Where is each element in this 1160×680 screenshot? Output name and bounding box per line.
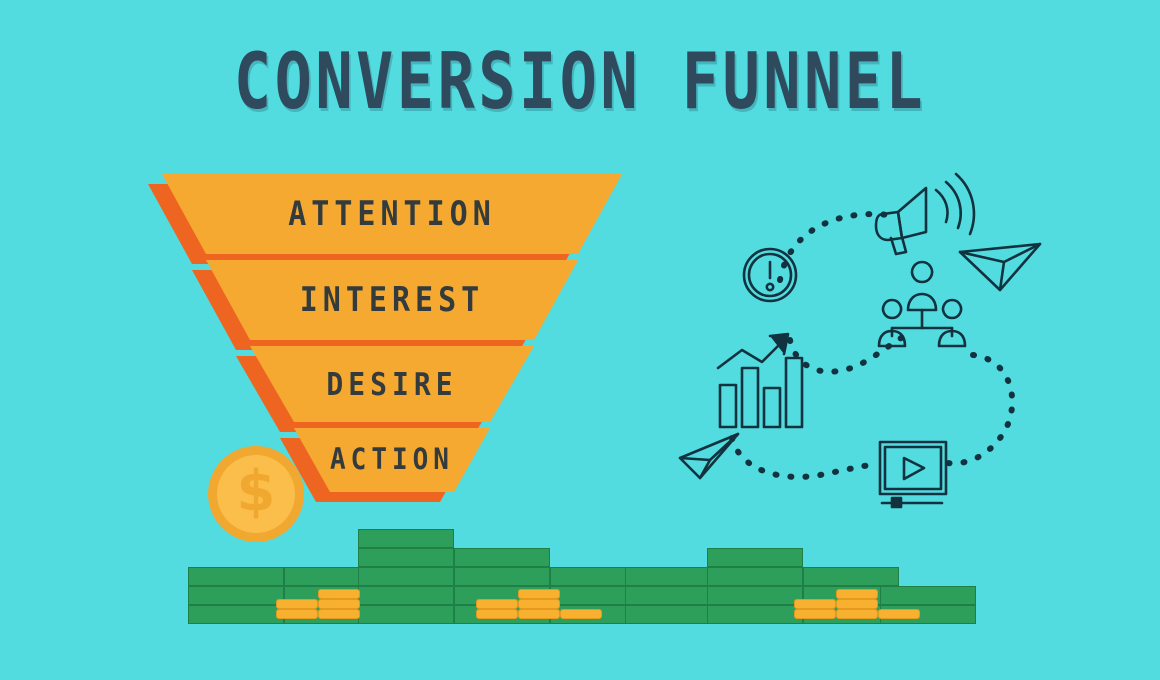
banknote-block	[358, 548, 454, 567]
alert-circle-icon	[744, 249, 796, 301]
funnel-layer-label: INTEREST	[206, 255, 578, 345]
megaphone-icon	[876, 174, 974, 254]
funnel-layer-label: DESIRE	[250, 341, 534, 426]
coin-stack-piece	[878, 609, 920, 619]
banknote-block	[358, 586, 454, 605]
coin-stack-piece	[476, 599, 518, 609]
banknote-block	[358, 567, 454, 586]
coin-inner-disc: $	[217, 455, 295, 533]
coin-stack-piece	[836, 589, 878, 599]
dollar-coin: $	[208, 446, 304, 542]
poster-canvas: CONVERSION FUNNEL ATTENTION INTEREST DES…	[0, 0, 1160, 680]
banknote-block	[625, 586, 721, 605]
coin-stack-piece	[794, 599, 836, 609]
banknote-block	[550, 605, 646, 624]
page-title: CONVERSION FUNNEL	[81, 42, 1079, 120]
banknote-block	[625, 605, 721, 624]
coin-stack-piece	[836, 609, 878, 619]
banknote-block	[358, 529, 454, 548]
coin-stack-piece	[560, 609, 602, 619]
banknote-block	[707, 586, 803, 605]
paper-plane-icon	[960, 244, 1040, 290]
banknote-block	[625, 567, 721, 586]
banknote-block	[803, 567, 899, 586]
coin-stack-piece	[276, 609, 318, 619]
banknote-block	[188, 567, 284, 586]
banknote-block	[284, 605, 380, 624]
banknote-block	[454, 567, 550, 586]
banknote-block	[284, 586, 380, 605]
banknote-block	[284, 567, 380, 586]
conversion-funnel: ATTENTION INTEREST DESIRE ACTION	[140, 160, 640, 490]
coin-stack-piece	[318, 609, 360, 619]
dotted-path-middle	[790, 335, 908, 372]
coin-stack-piece	[318, 589, 360, 599]
users-network-icon	[879, 262, 965, 346]
banknote-block	[550, 567, 646, 586]
dotted-path-bottom	[732, 438, 876, 477]
dollar-sign-icon: $	[237, 464, 276, 520]
banknote-block	[550, 586, 646, 605]
coin-stack-piece	[518, 599, 560, 609]
banknote-block	[454, 586, 550, 605]
funnel-layer-label: ACTION	[294, 424, 490, 496]
coin-stack-piece	[276, 599, 318, 609]
banknote-block	[707, 605, 803, 624]
funnel-layer-label: ATTENTION	[162, 169, 622, 259]
banknote-block	[454, 605, 550, 624]
banknote-block	[803, 586, 899, 605]
banknote-block	[880, 605, 976, 624]
banknote-block	[454, 548, 550, 567]
banknote-block	[880, 586, 976, 605]
coin-stack-piece	[318, 599, 360, 609]
coin-stack-piece	[794, 609, 836, 619]
banknote-block	[803, 605, 899, 624]
paper-plane-small-icon	[680, 434, 738, 478]
coin-stack-piece	[518, 609, 560, 619]
banknote-block	[188, 605, 284, 624]
coin-stack-piece	[518, 589, 560, 599]
video-player-icon	[880, 442, 946, 507]
coin-stack-piece	[836, 599, 878, 609]
banknote-block	[188, 586, 284, 605]
marketing-illustration	[670, 170, 1070, 510]
dotted-path-right-loop	[942, 355, 1012, 463]
coin-stack-piece	[476, 609, 518, 619]
banknote-block	[707, 548, 803, 567]
banknote-block	[707, 567, 803, 586]
bar-chart-growth-icon	[718, 334, 802, 427]
banknote-block	[358, 605, 454, 624]
